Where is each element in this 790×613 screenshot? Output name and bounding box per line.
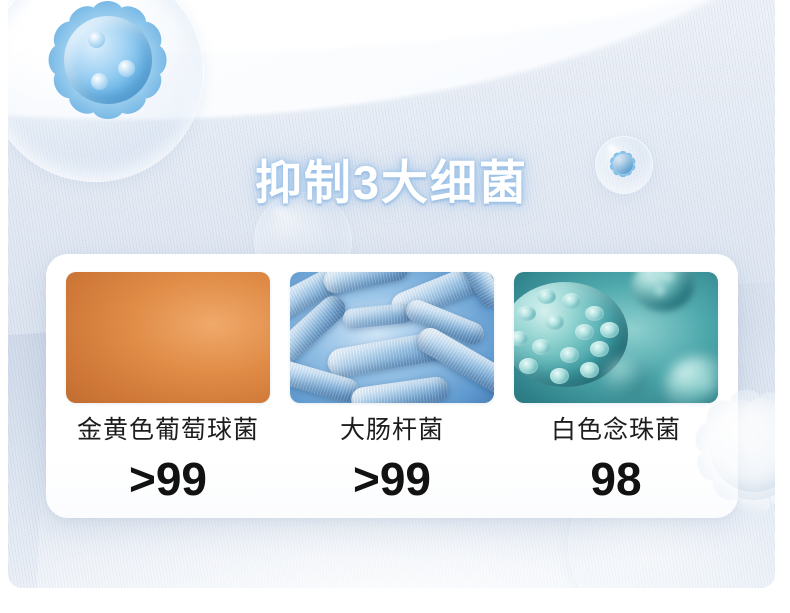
bacteria-column-staphylococcus: 金黄色葡萄球菌 >99 bbox=[66, 272, 270, 502]
candida-cell bbox=[665, 356, 718, 403]
bacteria-label: 金黄色葡萄球菌 bbox=[77, 418, 259, 443]
virus-particle-icon bbox=[24, 0, 192, 144]
bacteria-column-ecoli: 大肠杆菌 >99 bbox=[290, 272, 494, 502]
rod-bacterium bbox=[350, 375, 450, 403]
candida-cell bbox=[632, 272, 693, 311]
bacteria-value: 98 bbox=[590, 456, 641, 502]
escherichia-coli-photo bbox=[290, 272, 494, 403]
bacteria-value: >99 bbox=[129, 456, 207, 502]
bacteria-column-candida: 白色念珠菌 98 bbox=[514, 272, 718, 502]
bacteria-label: 白色念珠菌 bbox=[551, 418, 681, 443]
candida-albicans-photo bbox=[514, 272, 718, 403]
poster-root: 抑制3大细菌 bbox=[0, 0, 790, 613]
page-title: 抑制3大细菌 bbox=[8, 159, 775, 206]
staphylococcus-aureus-photo bbox=[66, 272, 270, 403]
bacteria-card: 金黄色葡萄球菌 >99 bbox=[46, 254, 738, 518]
rod-bacterium bbox=[342, 302, 413, 329]
candida-cell bbox=[604, 358, 649, 397]
bacteria-column-list: 金黄色葡萄球菌 >99 bbox=[46, 254, 738, 518]
bacteria-value: >99 bbox=[353, 456, 431, 502]
rod-bacterium bbox=[321, 272, 410, 295]
poster-scene: 抑制3大细菌 bbox=[8, 0, 775, 588]
bacteria-label: 大肠杆菌 bbox=[340, 418, 444, 443]
